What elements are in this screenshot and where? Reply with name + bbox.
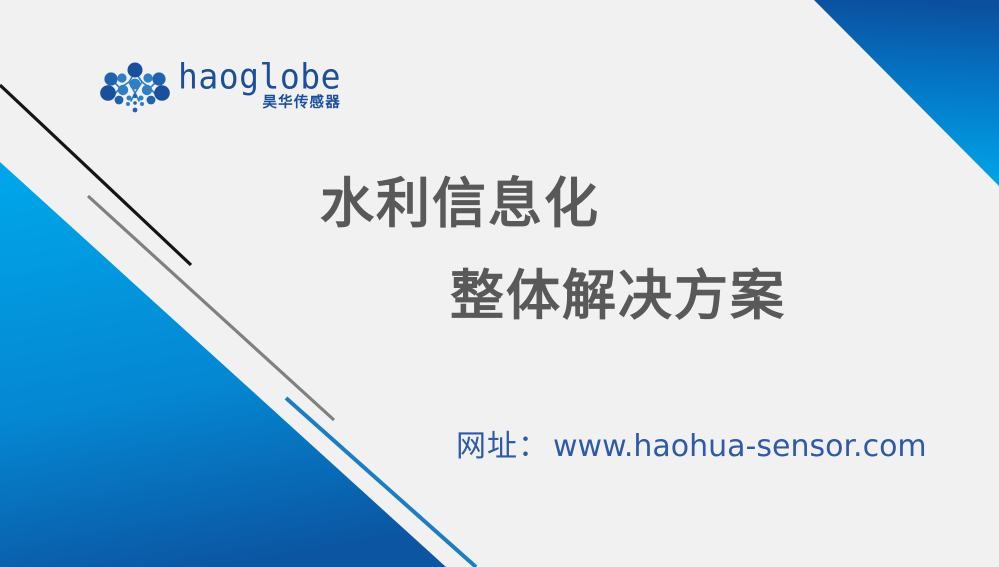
slide-canvas: haoglobe 昊华传感器 水利信息化 整体解决方案 网址： www.haoh… <box>0 0 999 567</box>
page-title-line-1: 水利信息化 <box>320 177 600 231</box>
page-title-line-2: 整体解决方案 <box>450 269 786 323</box>
website-label: 网址： <box>456 421 549 465</box>
logo-wordmark: haoglobe <box>178 59 341 94</box>
website-url[interactable]: www.haohua-sensor.com <box>553 429 927 464</box>
haoglobe-molecular-network-icon <box>98 60 172 116</box>
brand-logo[interactable]: haoglobe 昊华传感器 <box>98 58 328 124</box>
top-right-blue-triangle <box>814 0 999 186</box>
logo-subtitle: 昊华传感器 <box>262 96 341 111</box>
website-row: 网址： www.haohua-sensor.com <box>456 421 927 465</box>
logo-text-group: haoglobe 昊华传感器 <box>178 58 341 111</box>
